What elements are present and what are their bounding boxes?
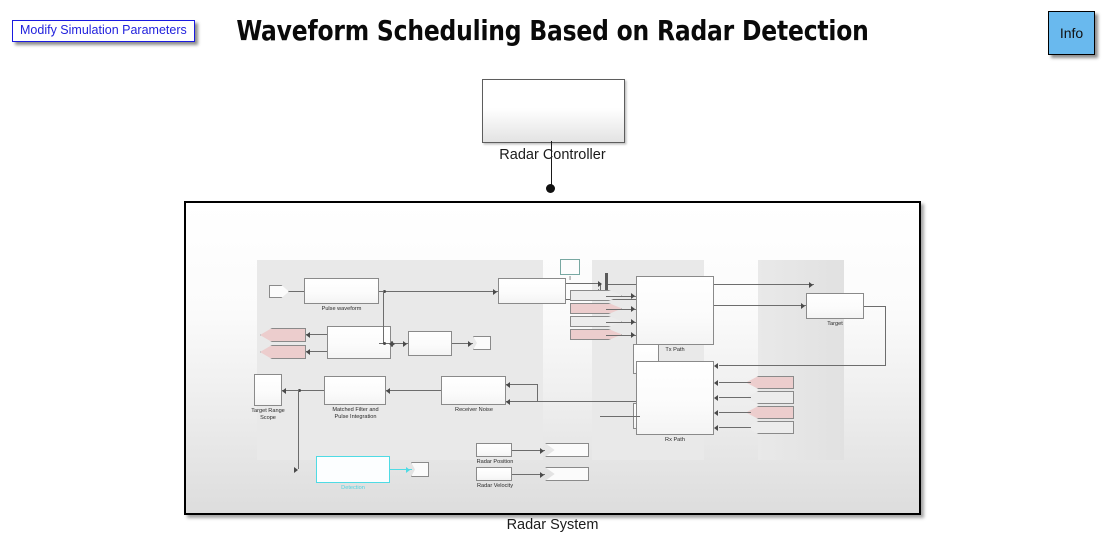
wire [719,397,751,398]
transmitter-block[interactable] [498,278,566,304]
pulse-index-block[interactable] [408,331,452,356]
arrow [801,303,805,309]
arrow [598,281,602,287]
pulse-waveform-block[interactable] [304,278,379,304]
arrow [631,332,635,338]
rx-source-1[interactable] [746,376,794,389]
controller-connector-line [551,141,553,188]
rx-path-label: Rx Path [636,437,714,444]
outport-radar-position[interactable] [545,443,589,457]
arrow [282,388,286,394]
arrow [406,467,410,473]
arrow [714,425,718,431]
arrow [306,349,310,355]
arrow [714,363,718,369]
rx-source-2[interactable] [746,391,794,404]
wire [719,427,751,428]
wire [600,416,640,417]
info-button[interactable]: Info [1048,11,1095,55]
arrow [306,332,310,338]
radar-controller-block[interactable] [482,79,625,143]
wire [714,305,806,306]
arrow [631,319,635,325]
arrow [294,467,298,473]
display-scope-label: I [560,276,580,283]
receiver-noise-block[interactable] [441,376,506,405]
target-range-scope-block[interactable] [254,374,282,406]
wire [864,306,886,307]
arrow [403,341,407,347]
wire [506,401,645,402]
rx-source-3[interactable] [746,406,794,419]
receiver-noise-label: Receiver Noise [438,407,510,414]
arrow [468,341,472,347]
arrow [391,341,395,347]
wire [719,382,751,383]
arrow [493,289,497,295]
wire [282,390,325,391]
arrow [631,293,635,299]
rx-source-4[interactable] [746,421,794,434]
junction-dot [383,342,386,345]
pulse-waveform-label: Pulse waveform [304,306,379,313]
arrow [631,306,635,312]
arrow [714,380,718,386]
arrow [506,382,510,388]
wire [379,291,498,292]
outport-detection[interactable] [411,462,429,477]
outport-radar-velocity[interactable] [545,467,589,481]
app-canvas: Modify Simulation Parameters Waveform Sc… [0,0,1105,548]
arrow [714,410,718,416]
radar-system-block[interactable]: Pulse waveform [184,201,921,515]
wire [719,365,886,366]
target-block[interactable] [806,293,864,319]
wire [386,390,442,391]
wire [298,390,299,469]
tx-path-block[interactable] [636,276,714,345]
arrow [506,399,510,405]
radar-controller-label: Radar Controller [430,147,675,163]
target-range-scope-label: Target Range Scope [240,408,296,422]
controller-connector-dot [546,184,555,193]
arrow [386,388,390,394]
wire [537,384,538,402]
display-scope-icon[interactable] [560,259,580,275]
wire [383,291,384,343]
radar-position-label: Radar Position [469,459,521,466]
radar-velocity-label: Radar Velocity [469,483,521,490]
page-title: Waveform Scheduling Based on Radar Detec… [39,14,1067,47]
wire [506,384,538,385]
target-label: Target [806,321,864,328]
matched-filter-block[interactable] [324,376,386,405]
arrow [540,472,544,478]
arrow [540,448,544,454]
rx-path-block[interactable] [636,361,714,435]
radar-velocity-block[interactable] [476,467,512,481]
detection-block[interactable] [316,456,390,483]
radar-position-block[interactable] [476,443,512,457]
matched-filter-label: Matched Filter and Pulse Integration [308,407,403,421]
radar-system-label: Radar System [430,517,675,533]
wire [566,283,601,284]
wire [719,412,751,413]
arrow [809,282,813,288]
info-button-label: Info [1060,25,1083,41]
wire [885,306,886,366]
tx-path-label: Tx Path [636,347,714,354]
detection-label: Detection [316,485,390,492]
arrow [714,395,718,401]
